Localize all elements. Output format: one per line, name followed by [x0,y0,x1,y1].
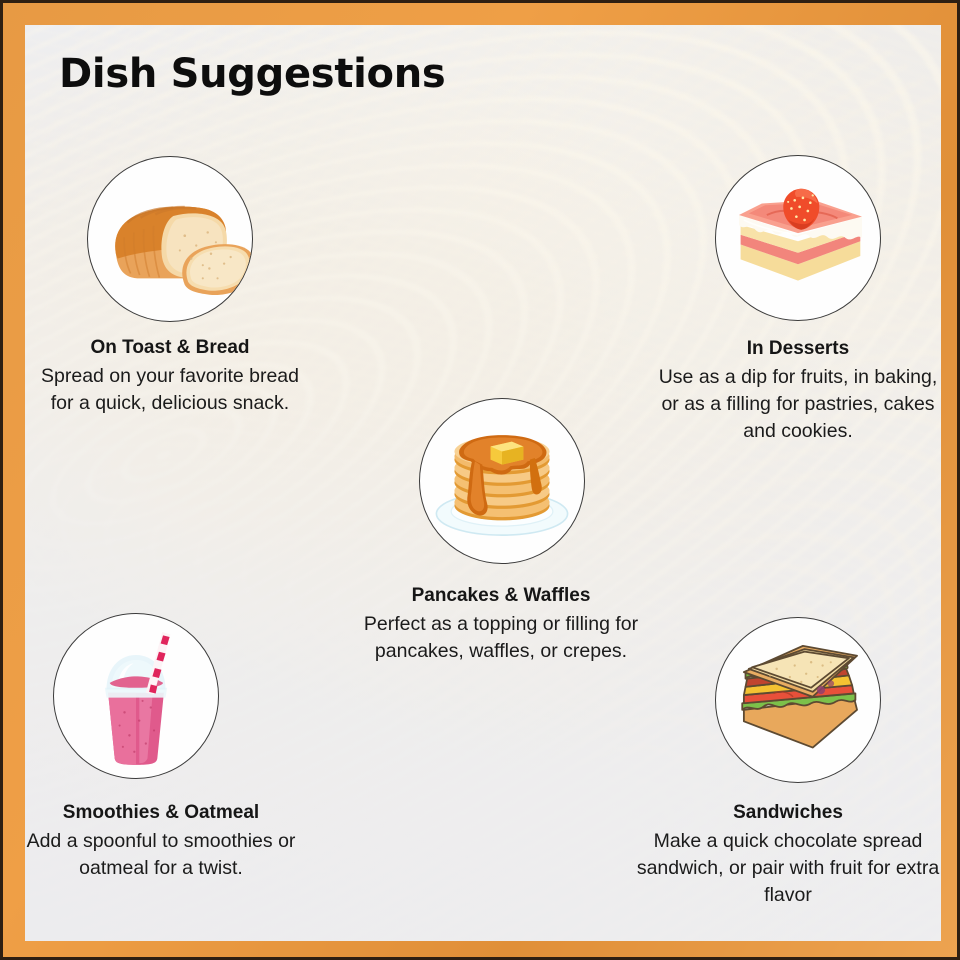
item-heading: In Desserts [655,336,941,362]
sandwich-icon [715,617,881,783]
caption-smoothies-and-oatmeal: Smoothies & Oatmeal Add a spoonful to sm… [25,800,311,882]
caption-on-toast-and-bread: On Toast & Bread Spread on your favorite… [31,335,309,417]
item-heading: Pancakes & Waffles [353,583,649,609]
item-body: Perfect as a topping or filling for panc… [353,611,649,665]
page-title: Dish Suggestions [59,51,445,97]
pancake-stack-icon [419,398,585,564]
item-body: Make a quick chocolate spread sandwich, … [635,828,941,909]
caption-sandwiches: Sandwiches Make a quick chocolate spread… [635,800,941,909]
item-heading: Smoothies & Oatmeal [25,800,311,826]
item-heading: Sandwiches [635,800,941,826]
poster-orange-frame: Dish Suggestions [0,0,960,960]
item-heading: On Toast & Bread [31,335,309,361]
item-body: Add a spoonful to smoothies or oatmeal f… [25,828,311,882]
poster-content-area: Dish Suggestions [25,25,941,941]
caption-in-desserts: In Desserts Use as a dip for fruits, in … [655,336,941,445]
caption-pancakes-and-waffles: Pancakes & Waffles Perfect as a topping … [353,583,649,665]
item-body: Spread on your favorite bread for a quic… [31,363,309,417]
bread-loaf-icon [87,156,253,322]
item-body: Use as a dip for fruits, in baking, or a… [655,364,941,445]
smoothie-cup-icon [53,613,219,779]
dish-suggestions-poster: Dish Suggestions [0,0,960,960]
strawberry-cake-icon [715,155,881,321]
